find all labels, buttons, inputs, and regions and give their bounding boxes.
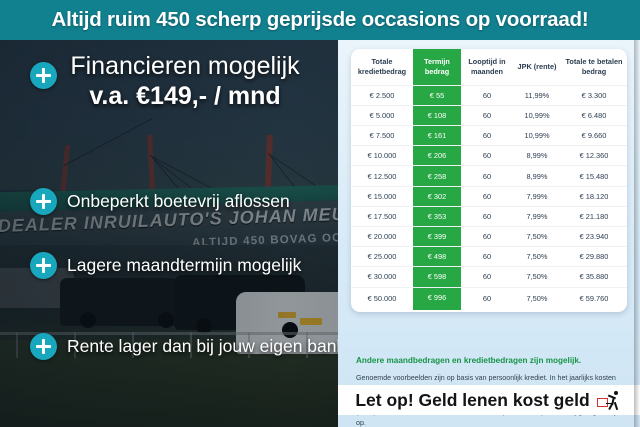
cell-monthly-amount: € 498 [413, 247, 461, 267]
cell-duration: 60 [461, 186, 513, 206]
table-row: € 12.500€ 258608,99%€ 15.480 [351, 166, 627, 186]
col-header-apr: JPK (rente) [513, 49, 561, 85]
cell-total-credit: € 12.500 [351, 166, 413, 186]
page-title: Financieren mogelijk v.a. €149,- / mnd [30, 52, 340, 111]
cell-total-credit: € 25.000 [351, 247, 413, 267]
cell-total-credit: € 20.000 [351, 227, 413, 247]
cell-monthly-amount: € 206 [413, 146, 461, 166]
cell-apr: 8,99% [513, 166, 561, 186]
cell-duration: 60 [461, 206, 513, 226]
cell-duration: 60 [461, 267, 513, 287]
cell-monthly-amount: € 598 [413, 267, 461, 287]
financing-info-panel: Totale kredietbedrag Termijn bedrag Loop… [338, 40, 640, 427]
benefit-label: Onbeperkt boetevrij aflossen [67, 191, 290, 212]
cell-total-credit: € 15.000 [351, 186, 413, 206]
cell-total-credit: € 50.000 [351, 287, 413, 310]
cell-apr: 10,99% [513, 105, 561, 125]
table-row: € 5.000€ 1086010,99%€ 6.480 [351, 105, 627, 125]
cell-duration: 60 [461, 146, 513, 166]
table-row: € 15.000€ 302607,99%€ 18.120 [351, 186, 627, 206]
cell-monthly-amount: € 353 [413, 206, 461, 226]
cell-duration: 60 [461, 166, 513, 186]
benefit-item-2: Lagere maandtermijn mogelijk [30, 252, 301, 279]
left-content-column: Financieren mogelijk v.a. €149,- / mnd O… [0, 40, 345, 427]
cell-apr: 7,50% [513, 267, 561, 287]
cell-duration: 60 [461, 287, 513, 310]
financing-rates-table: Totale kredietbedrag Termijn bedrag Loop… [351, 49, 627, 310]
col-header-total-credit: Totale kredietbedrag [351, 49, 413, 85]
cell-apr: 10,99% [513, 126, 561, 146]
cell-duration: 60 [461, 227, 513, 247]
cell-total-payable: € 9.660 [561, 126, 627, 146]
cell-monthly-amount: € 108 [413, 105, 461, 125]
col-header-monthly-amount: Termijn bedrag [413, 49, 461, 85]
cell-duration: 60 [461, 105, 513, 125]
table-row: € 30.000€ 598607,50%€ 35.880 [351, 267, 627, 287]
table-row: € 20.000€ 399607,50%€ 23.940 [351, 227, 627, 247]
cell-monthly-amount: € 258 [413, 166, 461, 186]
col-header-total-payable: Totale te betalen bedrag [561, 49, 627, 85]
cell-total-payable: € 18.120 [561, 186, 627, 206]
headline-line-1: Financieren mogelijk [30, 52, 340, 81]
table-row: € 2.500€ 556011,99%€ 3.300 [351, 85, 627, 105]
cell-total-payable: € 3.300 [561, 85, 627, 105]
cell-monthly-amount: € 302 [413, 186, 461, 206]
benefit-item-3: Rente lager dan bij jouw eigen bank [30, 333, 345, 360]
benefit-label: Rente lager dan bij jouw eigen bank [67, 336, 345, 357]
cell-apr: 7,99% [513, 186, 561, 206]
cell-apr: 7,50% [513, 287, 561, 310]
cell-total-payable: € 29.880 [561, 247, 627, 267]
cell-total-credit: € 10.000 [351, 146, 413, 166]
cell-total-payable: € 59.760 [561, 287, 627, 310]
table-row: € 17.500€ 353607,99%€ 21.180 [351, 206, 627, 226]
cell-total-credit: € 30.000 [351, 267, 413, 287]
cell-duration: 60 [461, 85, 513, 105]
note-title: Andere maandbedragen en kredietbedragen … [356, 356, 624, 367]
cell-total-payable: € 12.360 [561, 146, 627, 166]
table-row: € 25.000€ 498607,50%€ 29.880 [351, 247, 627, 267]
rates-table-body: € 2.500€ 556011,99%€ 3.300€ 5.000€ 10860… [351, 85, 627, 309]
cell-monthly-amount: € 399 [413, 227, 461, 247]
cell-duration: 60 [461, 247, 513, 267]
cell-total-payable: € 35.880 [561, 267, 627, 287]
cell-total-payable: € 21.180 [561, 206, 627, 226]
cell-monthly-amount: € 996 [413, 287, 461, 310]
benefit-label: Lagere maandtermijn mogelijk [67, 255, 301, 276]
plus-icon [30, 188, 57, 215]
top-banner-bar: Altijd ruim 450 scherp geprijsde occasio… [0, 0, 640, 40]
benefit-item-1: Onbeperkt boetevrij aflossen [30, 188, 290, 215]
cell-total-credit: € 5.000 [351, 105, 413, 125]
legal-warning-text: Let op! Geld lenen kost geld [355, 390, 589, 411]
cell-apr: 7,50% [513, 227, 561, 247]
top-banner-text: Altijd ruim 450 scherp geprijsde occasio… [52, 8, 589, 32]
afm-pulling-block-icon [597, 390, 623, 410]
headline-line-2: v.a. €149,- / mnd [30, 81, 340, 111]
cell-monthly-amount: € 161 [413, 126, 461, 146]
table-row: € 7.500€ 1616010,99%€ 9.660 [351, 126, 627, 146]
plus-icon [30, 252, 57, 279]
cell-total-payable: € 23.940 [561, 227, 627, 247]
table-row: € 50.000€ 996607,50%€ 59.760 [351, 287, 627, 310]
cell-apr: 11,99% [513, 85, 561, 105]
cell-monthly-amount: € 55 [413, 85, 461, 105]
cell-total-payable: € 15.480 [561, 166, 627, 186]
cell-apr: 8,99% [513, 146, 561, 166]
cell-apr: 7,50% [513, 247, 561, 267]
table-row: € 10.000€ 206608,99%€ 12.360 [351, 146, 627, 166]
cell-total-credit: € 17.500 [351, 206, 413, 226]
cell-duration: 60 [461, 126, 513, 146]
cell-total-credit: € 2.500 [351, 85, 413, 105]
plus-icon [30, 333, 57, 360]
col-header-duration: Looptijd in maanden [461, 49, 513, 85]
cell-apr: 7,99% [513, 206, 561, 226]
cell-total-credit: € 7.500 [351, 126, 413, 146]
cell-total-payable: € 6.480 [561, 105, 627, 125]
promo-banner: Altijd ruim 450 scherp geprijsde occasio… [0, 0, 640, 427]
table-header-row: Totale kredietbedrag Termijn bedrag Loop… [351, 49, 627, 85]
legal-warning-bar: Let op! Geld lenen kost geld [338, 385, 640, 415]
rates-table-card: Totale kredietbedrag Termijn bedrag Loop… [351, 49, 627, 312]
